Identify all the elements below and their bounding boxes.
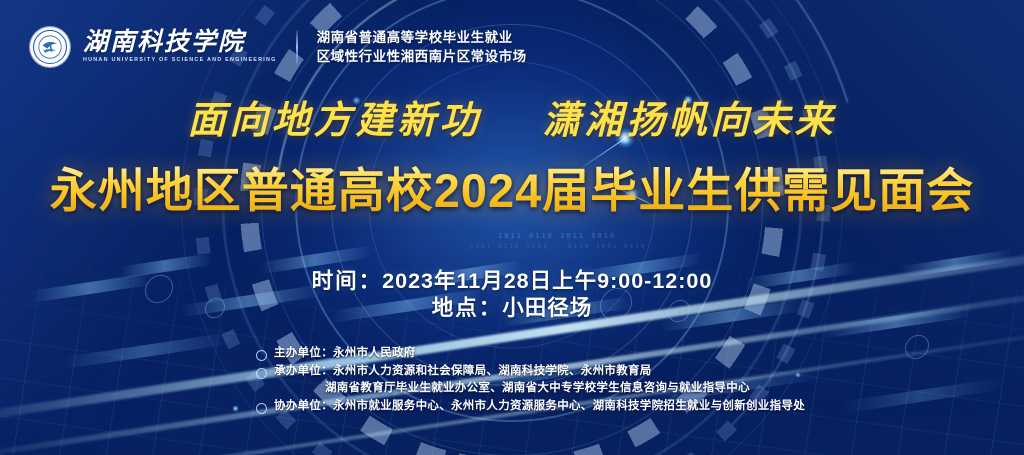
header-logo-block: 湖南科技学院 HUNAN UNIVERSITY OF SCIENCE AND E…: [30, 27, 527, 67]
school-name-cn: 湖南科技学院: [83, 30, 277, 56]
circle-bullet-icon: [256, 403, 267, 414]
event-banner: 1011 0110 1011 0010 0110 1001 0110 1001 …: [0, 0, 1024, 455]
calligraphy-slogan: 面向地方建新功 潇湘扬帆向未来: [0, 99, 1024, 143]
header-subtitle-line-2: 区域性行业性湘西南片区常设市场: [317, 49, 527, 65]
header-subtitle-line-1: 湖南省普通高等学校毕业生就业: [317, 30, 527, 46]
organizer-label: 承办单位：: [274, 365, 333, 377]
organizer-row: 承办单位：永州市人力资源和社会保障局、湖南科技学院、永州市教育局 湖南省教育厅毕…: [256, 364, 805, 396]
event-place-value: 小田径场: [502, 296, 592, 320]
header-subtitle: 湖南省普通高等学校毕业生就业 区域性行业性湘西南片区常设市场: [317, 30, 527, 65]
event-time-row: 时间：2023年11月28日上午9:00-12:00: [0, 268, 1024, 295]
slogan-part-2: 潇湘扬帆向未来: [543, 100, 837, 142]
organizer-row: 主办单位：永州市人民政府: [256, 346, 805, 361]
university-crest-icon: [30, 27, 70, 67]
event-meta: 时间：2023年11月28日上午9:00-12:00 地点：小田径场: [0, 268, 1024, 322]
event-time-label: 时间：: [312, 269, 383, 293]
vertical-divider-icon: [296, 30, 298, 64]
circle-bullet-icon: [256, 368, 267, 379]
organizer-value: 永州市人力资源和社会保障局、湖南科技学院、永州市教育局: [333, 365, 652, 377]
school-name-en: HUNAN UNIVERSITY OF SCIENCE AND ENGINEER…: [83, 57, 277, 64]
organizer-line-extra: 湖南省教育厅毕业生就业办公室、湖南省大中专学校学生信息咨询与就业指导中心: [274, 381, 750, 396]
organizer-line: 协办单位：永州市就业服务中心、永州市人力资源服务中心、湖南科技学院招生就业与创新…: [274, 399, 805, 414]
event-place-label: 地点：: [432, 296, 503, 320]
binary-decor-text-1: 1011 0110 1011 0010: [498, 232, 616, 240]
organizer-value: 永州市就业服务中心、永州市人力资源服务中心、湖南科技学院招生就业与创新创业指导处: [333, 400, 805, 412]
organizer-line: 承办单位：永州市人力资源和社会保障局、湖南科技学院、永州市教育局: [274, 364, 750, 379]
page-title: 永州地区普通高校2024届毕业生供需见面会: [0, 163, 1024, 219]
organizer-list: 主办单位：永州市人民政府 承办单位：永州市人力资源和社会保障局、湖南科技学院、永…: [256, 346, 805, 414]
slogan-part-1: 面向地方建新功: [187, 100, 481, 142]
school-name-block: 湖南科技学院 HUNAN UNIVERSITY OF SCIENCE AND E…: [83, 30, 277, 64]
organizer-text: 承办单位：永州市人力资源和社会保障局、湖南科技学院、永州市教育局 湖南省教育厅毕…: [274, 364, 750, 396]
organizer-line: 主办单位：永州市人民政府: [274, 346, 416, 361]
organizer-text: 协办单位：永州市就业服务中心、永州市人力资源服务中心、湖南科技学院招生就业与创新…: [274, 399, 805, 414]
circle-bullet-icon: [256, 350, 267, 361]
binary-decor-text-3: 1001 0110 1101: [470, 243, 549, 250]
event-time-value: 2023年11月28日上午9:00-12:00: [382, 269, 712, 293]
binary-decor-text-2: 0110 1001 0110: [568, 243, 647, 250]
organizer-row: 协办单位：永州市就业服务中心、永州市人力资源服务中心、湖南科技学院招生就业与创新…: [256, 399, 805, 414]
organizer-value: 永州市人民政府: [333, 347, 416, 359]
event-place-row: 地点：小田径场: [0, 295, 1024, 322]
organizer-label: 主办单位：: [274, 347, 333, 359]
organizer-text: 主办单位：永州市人民政府: [274, 346, 416, 361]
organizer-label: 协办单位：: [274, 400, 333, 412]
light-spark-5: [232, 405, 239, 412]
